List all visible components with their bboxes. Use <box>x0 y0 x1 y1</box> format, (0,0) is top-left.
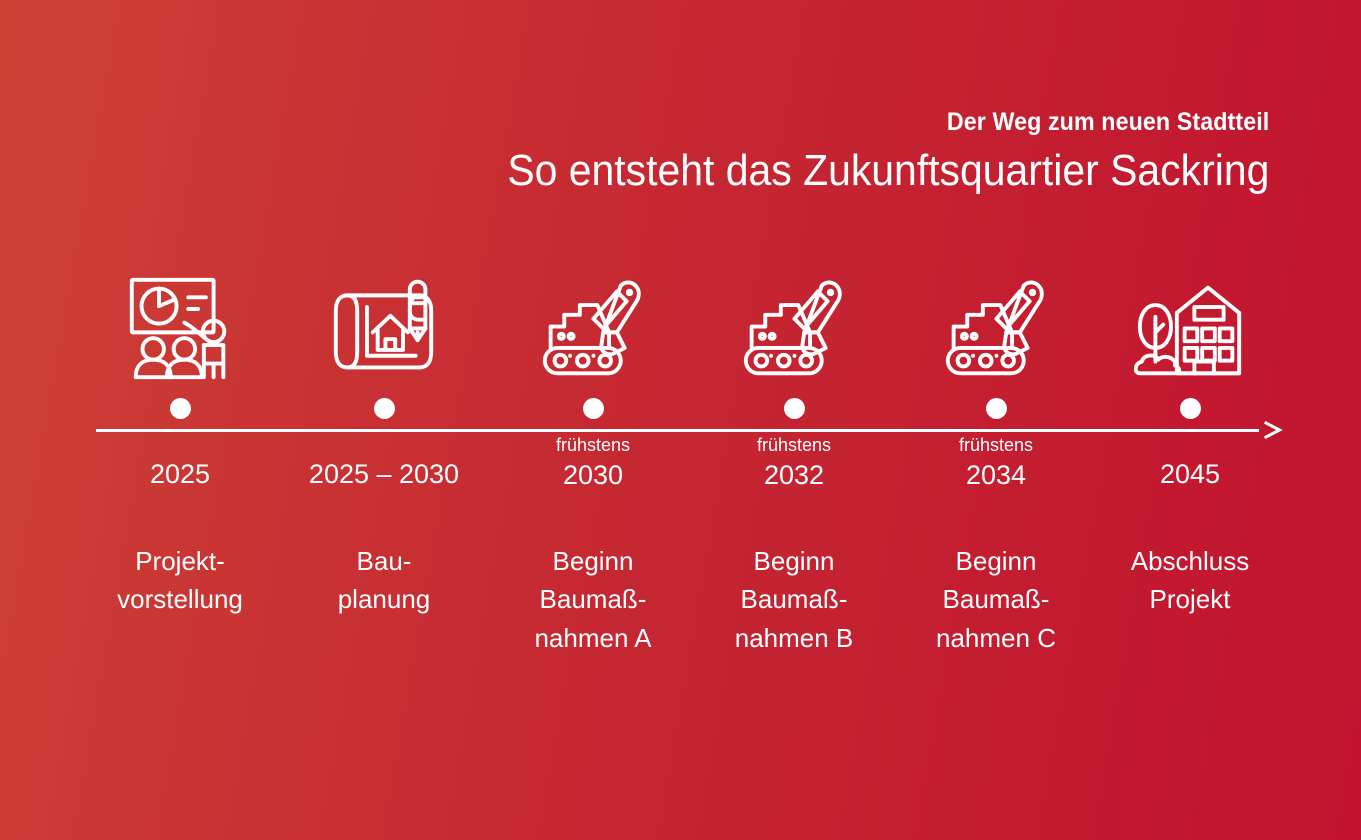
milestone-5: frühstens2034Beginn Baumaß- nahmen C <box>894 268 1098 657</box>
timeline-dot-wrap <box>1088 388 1292 432</box>
timeline-dot-wrap <box>491 388 695 432</box>
infographic-canvas: Der Weg zum neuen Stadtteil So entsteht … <box>0 0 1361 840</box>
milestone-date: 2045 <box>1088 432 1292 508</box>
milestone-date: 2025 <box>78 432 282 508</box>
milestone-caption: Beginn Baumaß- nahmen C <box>894 542 1098 657</box>
timeline-dot[interactable] <box>583 398 604 419</box>
milestone-year: 2032 <box>692 459 896 493</box>
timeline-dot[interactable] <box>170 398 191 419</box>
milestone-columns: 2025Projekt- vorstellung2025 – 2030Bau- … <box>0 0 1361 840</box>
milestone-year: 2025 <box>78 458 282 492</box>
timeline-dot[interactable] <box>1180 398 1201 419</box>
milestone-3: frühstens2030Beginn Baumaß- nahmen A <box>491 268 695 657</box>
presentation-chart-icon <box>78 268 282 388</box>
blueprint-pencil-icon <box>282 268 486 388</box>
milestone-year: 2025 – 2030 <box>282 458 486 492</box>
milestone-6: 2045Abschluss Projekt <box>1088 268 1292 619</box>
milestone-year: 2030 <box>491 459 695 493</box>
timeline-dot-wrap <box>692 388 896 432</box>
milestone-date: frühstens2030 <box>491 432 695 508</box>
milestone-caption: Projekt- vorstellung <box>78 542 282 619</box>
timeline-dot-wrap <box>78 388 282 432</box>
milestone-prefix-spacer <box>282 434 486 458</box>
timeline-dot[interactable] <box>374 398 395 419</box>
excavator-icon <box>692 268 896 388</box>
milestone-year: 2034 <box>894 459 1098 493</box>
excavator-icon <box>894 268 1098 388</box>
milestone-date: frühstens2034 <box>894 432 1098 508</box>
milestone-caption: Abschluss Projekt <box>1088 542 1292 619</box>
timeline-dot[interactable] <box>784 398 805 419</box>
milestone-4: frühstens2032Beginn Baumaß- nahmen B <box>692 268 896 657</box>
milestone-prefix-spacer <box>78 434 282 458</box>
milestone-prefix: frühstens <box>692 434 896 457</box>
milestone-prefix-spacer <box>1088 434 1292 458</box>
timeline-dot-wrap <box>894 388 1098 432</box>
milestone-2: 2025 – 2030Bau- planung <box>282 268 486 619</box>
milestone-prefix: frühstens <box>491 434 695 457</box>
milestone-date: 2025 – 2030 <box>282 432 486 508</box>
milestone-caption: Beginn Baumaß- nahmen A <box>491 542 695 657</box>
milestone-caption: Bau- planung <box>282 542 486 619</box>
milestone-year: 2045 <box>1088 458 1292 492</box>
timeline-dot-wrap <box>282 388 486 432</box>
excavator-icon <box>491 268 695 388</box>
timeline-dot[interactable] <box>986 398 1007 419</box>
building-tree-icon <box>1088 268 1292 388</box>
milestone-date: frühstens2032 <box>692 432 896 508</box>
milestone-caption: Beginn Baumaß- nahmen B <box>692 542 896 657</box>
milestone-prefix: frühstens <box>894 434 1098 457</box>
milestone-1: 2025Projekt- vorstellung <box>78 268 282 619</box>
